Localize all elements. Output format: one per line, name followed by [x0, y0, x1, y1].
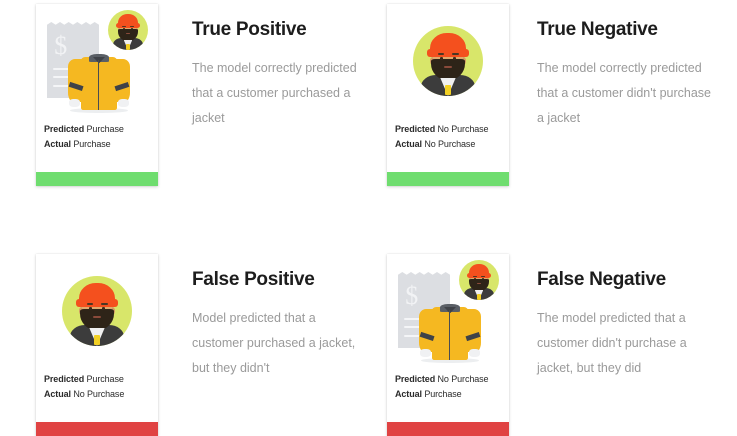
predicted-label: Predicted: [44, 374, 84, 384]
jacket-icon: [68, 52, 130, 112]
avatar-eyebrow-left: [122, 26, 126, 27]
text-column-false-positive: False Positive Model predicted that a cu…: [192, 254, 392, 381]
illustration-avatar-only: [36, 254, 158, 372]
dollar-sign-icon: $: [54, 33, 67, 59]
dollar-sign-icon: $: [405, 283, 418, 309]
jacket-zipper: [449, 310, 450, 360]
actual-value: No Purchase: [424, 139, 475, 149]
card-description-true-negative: The model correctly predicted that a cus…: [537, 56, 717, 131]
actual-row: Actual Purchase: [395, 387, 509, 402]
illustration-receipt-jacket-avatar: $: [36, 4, 158, 122]
avatar-background-circle: [108, 10, 148, 50]
status-bar-false-negative: [387, 422, 509, 436]
card-quadrant-false-negative: $: [387, 254, 737, 436]
text-column-true-positive: True Positive The model correctly predic…: [192, 4, 392, 131]
predicted-row: Predicted No Purchase: [395, 372, 509, 387]
avatar-eyebrow-right: [130, 26, 134, 27]
card-title-true-positive: True Positive: [192, 18, 392, 42]
text-column-true-negative: True Negative The model correctly predic…: [537, 4, 737, 131]
avatar-eye-right: [102, 307, 106, 310]
predicted-value: No Purchase: [438, 374, 489, 384]
jacket-zipper: [98, 60, 99, 110]
jacket-hand-right: [118, 99, 129, 107]
actual-value: No Purchase: [73, 389, 124, 399]
actual-row: Actual No Purchase: [395, 137, 509, 152]
avatar-background-circle: [413, 26, 483, 96]
card-description-true-positive: The model correctly predicted that a cus…: [192, 56, 367, 131]
actual-value: Purchase: [73, 139, 110, 149]
avatar-eyebrow-right: [481, 276, 485, 277]
avatar-tie: [477, 294, 481, 300]
actual-label: Actual: [44, 389, 71, 399]
predicted-row: Predicted No Purchase: [395, 122, 509, 137]
card-title-false-negative: False Negative: [537, 268, 737, 292]
status-bar-true-positive: [36, 172, 158, 186]
avatar-eye-right: [482, 278, 484, 280]
actual-label: Actual: [44, 139, 71, 149]
avatar-beanie-brim: [76, 299, 118, 307]
avatar-eyebrow-right: [101, 303, 107, 305]
predicted-row: Predicted Purchase: [44, 122, 158, 137]
receipt-zigzag-edge: [398, 272, 450, 277]
illustration-avatar-only: [387, 4, 509, 122]
avatar-eye-right: [453, 57, 457, 60]
card-description-false-positive: Model predicted that a customer purchase…: [192, 306, 367, 381]
avatar-eye-left: [440, 57, 444, 60]
avatar-mouth: [444, 66, 452, 68]
illustration-receipt-jacket-avatar: $: [387, 254, 509, 372]
predicted-label: Predicted: [395, 374, 435, 384]
avatar-tie: [445, 85, 451, 96]
jacket-hand-right: [469, 349, 480, 357]
avatar-mouth: [93, 316, 101, 318]
receipt-zigzag-edge: [47, 22, 99, 27]
card-true-negative[interactable]: Predicted No Purchase Actual No Purchase: [387, 4, 509, 186]
actual-row: Actual Purchase: [44, 137, 158, 152]
avatar-eye-right: [131, 28, 133, 30]
avatar-beanie-brim: [427, 49, 469, 57]
predicted-label: Predicted: [395, 124, 435, 134]
predicted-value: Purchase: [87, 374, 124, 384]
avatar-background-circle: [459, 260, 499, 300]
jacket-hand-left: [69, 99, 80, 107]
avatar-background-circle: [62, 276, 132, 346]
card-title-false-positive: False Positive: [192, 268, 392, 292]
actual-row: Actual No Purchase: [44, 387, 158, 402]
avatar-beanie-brim: [116, 23, 140, 27]
customer-avatar: [413, 26, 483, 96]
predicted-row: Predicted Purchase: [44, 372, 158, 387]
card-false-positive[interactable]: Predicted Purchase Actual No Purchase: [36, 254, 158, 436]
card-labels-false-negative: Predicted No Purchase Actual Purchase: [387, 372, 509, 422]
card-true-positive[interactable]: $: [36, 4, 158, 186]
predicted-value: Purchase: [87, 124, 124, 134]
customer-avatar: [108, 10, 148, 50]
card-quadrant-true-negative: Predicted No Purchase Actual No Purchase…: [387, 4, 737, 186]
actual-value: Purchase: [424, 389, 461, 399]
card-quadrant-true-positive: $: [36, 4, 392, 186]
avatar-eyebrow-left: [438, 53, 444, 55]
actual-label: Actual: [395, 139, 422, 149]
predicted-value: No Purchase: [438, 124, 489, 134]
status-bar-false-positive: [36, 422, 158, 436]
avatar-eyebrow-right: [452, 53, 458, 55]
avatar-mouth: [477, 283, 482, 284]
card-description-false-negative: The model predicted that a customer didn…: [537, 306, 717, 381]
predicted-label: Predicted: [44, 124, 84, 134]
avatar-eyebrow-left: [473, 276, 477, 277]
status-bar-true-negative: [387, 172, 509, 186]
text-column-false-negative: False Negative The model predicted that …: [537, 254, 737, 381]
card-title-true-negative: True Negative: [537, 18, 737, 42]
confusion-matrix-board: $: [0, 0, 737, 436]
avatar-beanie-brim: [467, 273, 491, 277]
card-labels-false-positive: Predicted Purchase Actual No Purchase: [36, 372, 158, 422]
avatar-mouth: [126, 33, 131, 34]
customer-avatar: [62, 276, 132, 346]
jacket-hand-left: [420, 349, 431, 357]
card-labels-true-positive: Predicted Purchase Actual Purchase: [36, 122, 158, 172]
avatar-eyebrow-left: [87, 303, 93, 305]
avatar-tie: [94, 335, 100, 346]
card-quadrant-false-positive: Predicted Purchase Actual No Purchase Fa…: [36, 254, 392, 436]
avatar-tie: [126, 44, 130, 50]
card-false-negative[interactable]: $: [387, 254, 509, 436]
card-labels-true-negative: Predicted No Purchase Actual No Purchase: [387, 122, 509, 172]
jacket-icon: [419, 302, 481, 362]
customer-avatar: [459, 260, 499, 300]
actual-label: Actual: [395, 389, 422, 399]
avatar-eye-left: [89, 307, 93, 310]
